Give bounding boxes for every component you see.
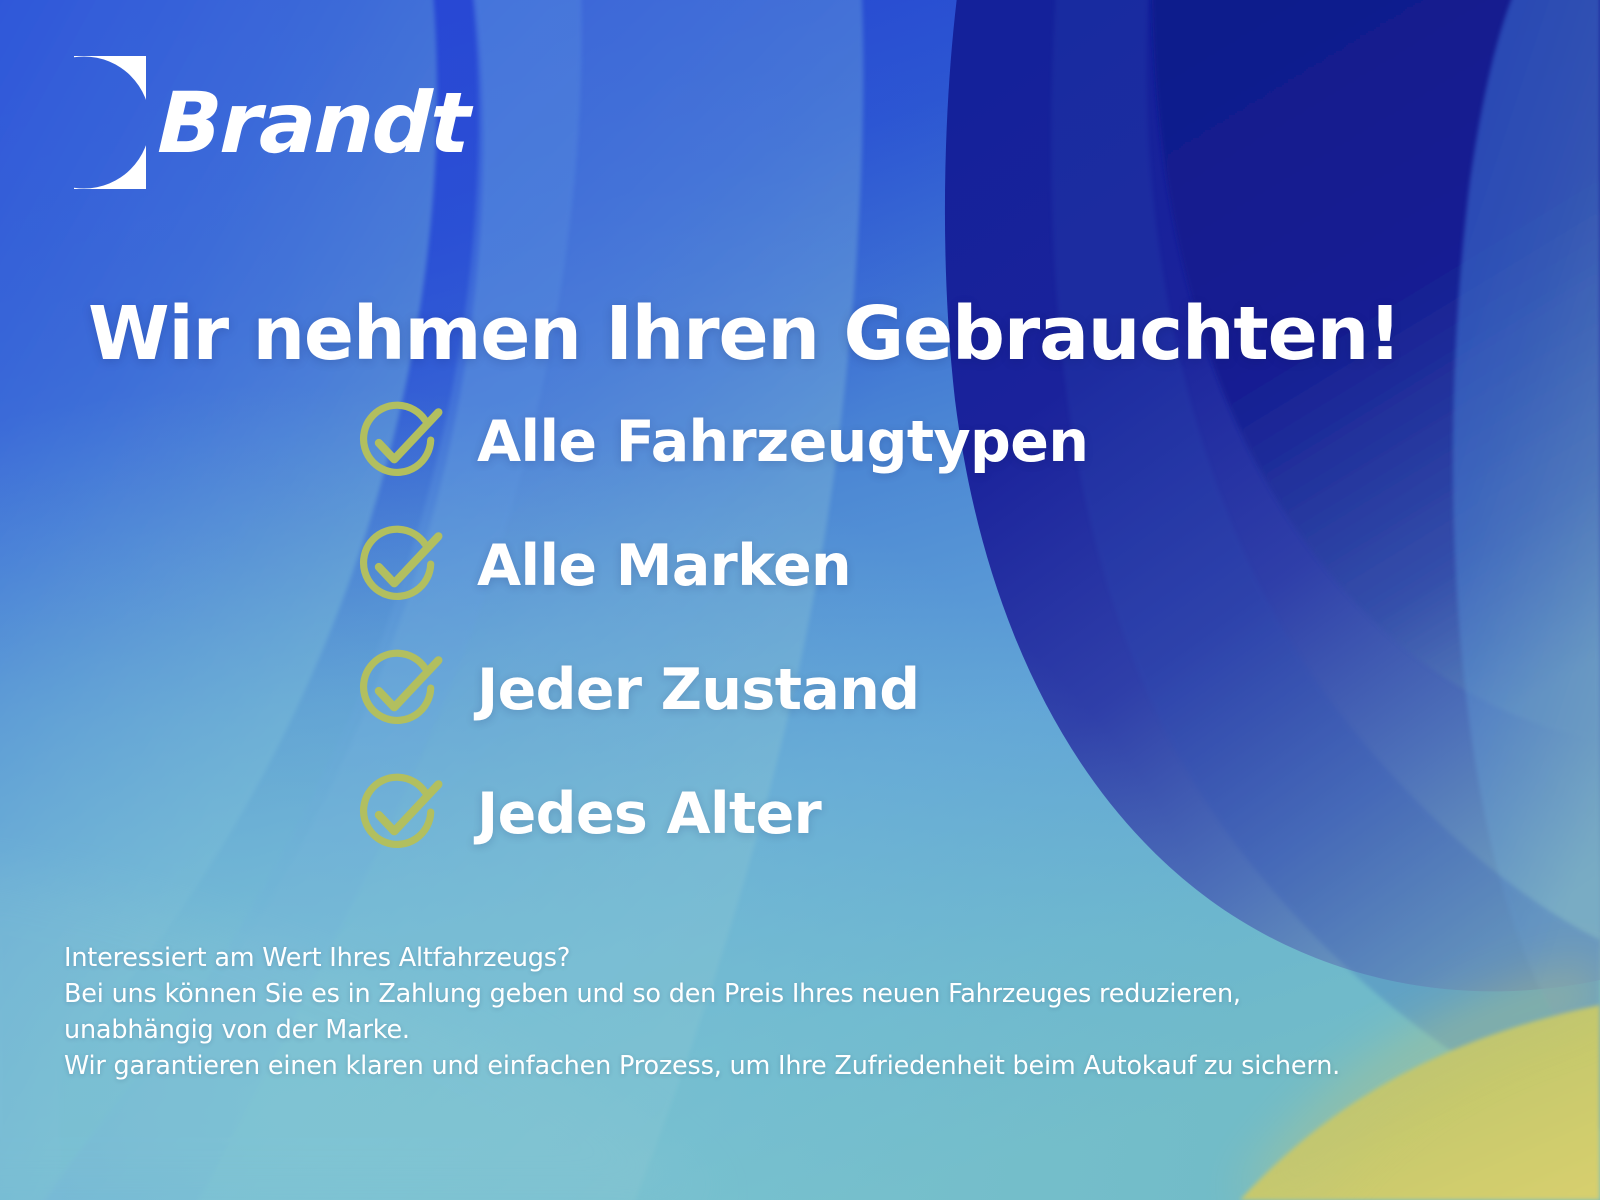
list-item: Alle Fahrzeugtypen (352, 395, 1088, 490)
promo-poster: Brandt Wir nehmen Ihren Gebrauchten! All… (0, 0, 1600, 1200)
poster-content: Brandt Wir nehmen Ihren Gebrauchten! All… (0, 0, 1600, 1200)
check-circle-icon (352, 643, 448, 739)
crescent-bracket-mark-icon (74, 56, 146, 189)
benefit-list: Alle Fahrzeugtypen Alle Marken Jeder Zus… (352, 395, 1088, 862)
page-title: Wir nehmen Ihren Gebrauchten! (88, 296, 1401, 374)
check-circle-icon (352, 395, 448, 491)
benefit-label: Jeder Zustand (477, 662, 919, 719)
footer-line-2: Bei uns können Sie es in Zahlung geben u… (64, 976, 1340, 1012)
footer-line-3: unabhängig von der Marke. (64, 1012, 1340, 1048)
list-item: Alle Marken (352, 519, 1088, 614)
check-circle-icon (352, 519, 448, 615)
benefit-label: Jedes Alter (477, 786, 821, 843)
footer-line-4: Wir garantieren einen klaren und einfach… (64, 1048, 1340, 1084)
list-item: Jeder Zustand (352, 643, 1088, 738)
list-item: Jedes Alter (352, 767, 1088, 862)
brand-logo: Brandt (74, 55, 468, 190)
brand-wordmark: Brandt (157, 81, 470, 165)
benefit-label: Alle Marken (477, 538, 851, 595)
benefit-label: Alle Fahrzeugtypen (477, 414, 1088, 471)
check-circle-icon (352, 767, 448, 863)
footer-description: Interessiert am Wert Ihres Altfahrzeugs?… (64, 940, 1340, 1084)
footer-line-1: Interessiert am Wert Ihres Altfahrzeugs? (64, 940, 1340, 976)
